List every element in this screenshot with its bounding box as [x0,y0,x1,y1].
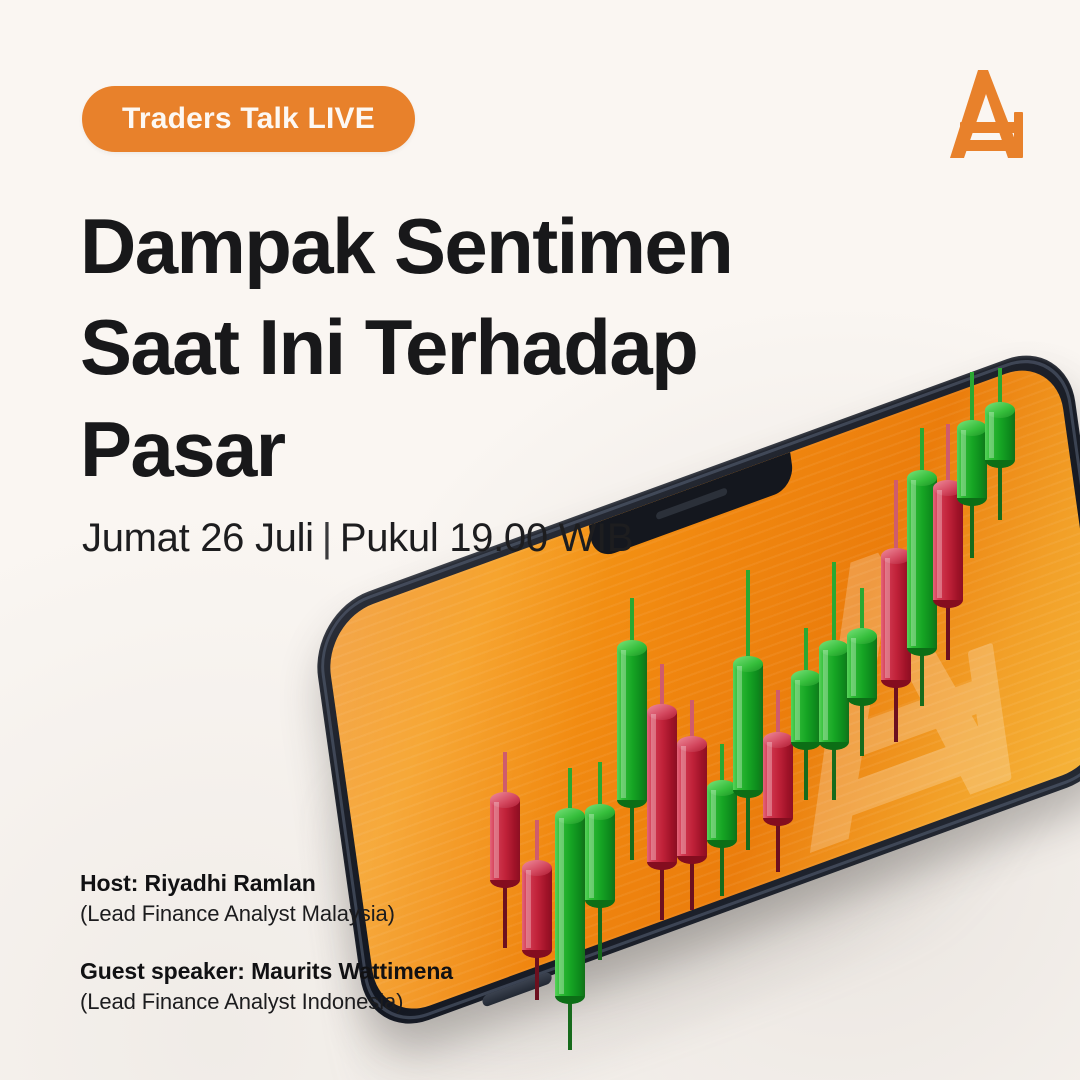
schedule-separator: | [314,516,340,560]
headline-line-1: Dampak Sentimen [80,196,820,297]
speaker-list: Host: Riyadhi Ramlan (Lead Finance Analy… [80,868,453,1018]
brand-a-logo-icon [930,62,1034,166]
speaker-name: Host: Riyadhi Ramlan [80,868,453,899]
speaker-host: Host: Riyadhi Ramlan (Lead Finance Analy… [80,868,453,930]
speaker-role: (Lead Finance Analyst Malaysia) [80,899,453,930]
schedule-line: Jumat 26 Juli|Pukul 19.00 WIB [82,516,633,561]
speaker-role: (Lead Finance Analyst Indonesia) [80,987,453,1018]
speaker-guest: Guest speaker: Maurits Wattimena (Lead F… [80,956,453,1018]
schedule-date: Jumat 26 Juli [82,516,314,560]
page-title: Dampak Sentimen Saat Ini Terhadap Pasar [80,196,820,500]
speaker-name: Guest speaker: Maurits Wattimena [80,956,453,987]
headline-line-3: Pasar [80,399,820,500]
promo-poster: Traders Talk LIVE Dampak Sentimen Saat I… [0,0,1080,1080]
live-badge[interactable]: Traders Talk LIVE [82,86,415,152]
live-badge-label: Traders Talk LIVE [122,102,375,136]
headline-line-2: Saat Ini Terhadap [80,297,820,398]
schedule-time: Pukul 19.00 WIB [340,516,633,560]
